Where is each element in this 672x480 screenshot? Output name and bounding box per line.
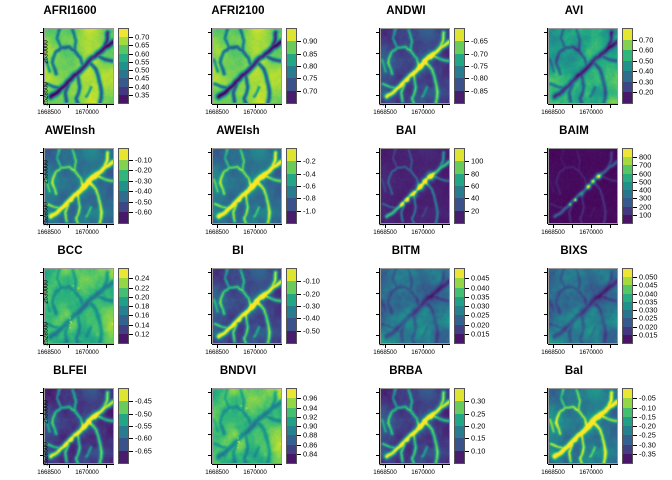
- colorbar-segment: [119, 297, 128, 306]
- colorbar-label: 0.14: [135, 320, 149, 329]
- colorbar-label: 0.80: [303, 62, 317, 71]
- panel-title: BI: [168, 245, 308, 257]
- colorbar-tick: [129, 325, 133, 326]
- colorbar-tick: [465, 41, 469, 42]
- colorbar-label: 0.50: [639, 56, 653, 65]
- raster-canvas: [381, 149, 449, 223]
- panel-title: BRBA: [336, 365, 476, 377]
- raster-map: [44, 268, 114, 344]
- x-axis-line: [548, 224, 618, 225]
- x-axis-label: 1668500: [205, 349, 228, 356]
- colorbar-label: 0.70: [639, 35, 653, 44]
- panel-andwi: ANDWI2530000252850016685001670000-0.65-0…: [336, 0, 504, 120]
- colorbar-tick: [129, 297, 133, 298]
- colorbar-tick: [297, 91, 301, 92]
- colorbar-segment: [119, 45, 128, 53]
- colorbar-segment: [455, 54, 464, 66]
- panel-avi: AVI25300002528500166850016700000.700.600…: [504, 0, 672, 120]
- colorbar-segment: [119, 451, 128, 463]
- x-axis-line: [44, 104, 114, 105]
- colorbar-label: 80: [471, 169, 479, 178]
- colorbar-tick: [633, 327, 637, 328]
- y-axis-line: [211, 388, 212, 464]
- colorbar-tick: [465, 306, 469, 307]
- y-axis-tick: [208, 314, 211, 315]
- colorbar-segment: [455, 334, 464, 343]
- panel-title: AWEIsh: [168, 125, 308, 137]
- colorbar-segment: [287, 426, 296, 435]
- colorbar-tick: [633, 454, 637, 455]
- colorbar-label: 0.025: [471, 311, 490, 320]
- y-axis-line: [547, 388, 548, 464]
- colorbar-segment: [287, 445, 296, 454]
- y-axis-line: [379, 388, 380, 464]
- colorbar-label: 0.30: [471, 397, 485, 406]
- colorbar-segment: [455, 315, 464, 324]
- x-axis-label: 1668500: [37, 349, 60, 356]
- colorbar-segment: [287, 186, 296, 198]
- colorbar-segment: [455, 174, 464, 186]
- colorbar-label: 100: [471, 157, 483, 166]
- colorbar-tick: [465, 161, 469, 162]
- y-axis-line: [547, 268, 548, 344]
- x-axis-tick: [442, 105, 443, 108]
- colorbar-segment: [119, 278, 128, 287]
- y-axis-tick: [40, 215, 43, 216]
- colorbar-tick: [129, 288, 133, 289]
- x-axis-label: 1668500: [373, 229, 396, 236]
- colorbar-tick: [633, 302, 637, 303]
- colorbar-segment: [623, 198, 632, 206]
- raster-map: [380, 268, 450, 344]
- y-axis-line: [211, 148, 212, 224]
- raster-canvas: [213, 29, 281, 103]
- y-axis-tick: [40, 335, 43, 336]
- colorbar-label: 0.90: [303, 37, 317, 46]
- x-axis-label: 1670000: [411, 349, 434, 356]
- colorbar-tick: [633, 285, 637, 286]
- panel-title: AFRI2100: [168, 5, 308, 17]
- y-axis-tick: [208, 392, 211, 393]
- panel-title: BIXS: [504, 245, 644, 257]
- colorbar-segment: [287, 174, 296, 186]
- x-axis-tick: [404, 225, 405, 228]
- colorbar-tick: [633, 398, 637, 399]
- colorbar-segment: [119, 191, 128, 202]
- colorbar-tick: [129, 62, 133, 63]
- colorbar-segment: [287, 54, 296, 66]
- colorbar-label: -0.10: [303, 277, 320, 286]
- raster-canvas: [549, 149, 617, 223]
- raster-map: [44, 148, 114, 224]
- colorbar-label: -0.55: [135, 422, 152, 431]
- colorbar-segment: [119, 62, 128, 70]
- colorbar: [454, 148, 465, 224]
- colorbar-tick: [297, 318, 301, 319]
- colorbar-label: -0.40: [135, 187, 152, 196]
- colorbar-segment: [455, 149, 464, 161]
- colorbar-tick: [297, 66, 301, 67]
- x-axis-tick: [404, 465, 405, 468]
- x-axis-tick: [610, 105, 611, 108]
- colorbar-tick: [129, 54, 133, 55]
- colorbar-segment: [119, 54, 128, 62]
- y-axis-tick: [544, 152, 547, 153]
- y-axis-label: 2528500: [43, 194, 50, 234]
- colorbar-label: 0.24: [135, 274, 149, 283]
- colorbar-segment: [455, 414, 464, 426]
- y-axis-label: 2530000: [43, 272, 50, 312]
- colorbar-tick: [129, 191, 133, 192]
- colorbar-tick: [297, 435, 301, 436]
- raster-canvas: [45, 389, 113, 463]
- y-axis-label: 2530000: [43, 32, 50, 72]
- colorbar-segment: [119, 334, 128, 343]
- colorbar-tick: [297, 41, 301, 42]
- y-axis-tick: [208, 32, 211, 33]
- x-axis-line: [44, 344, 114, 345]
- colorbar-label: 0.40: [639, 67, 653, 76]
- y-axis-tick: [544, 455, 547, 456]
- colorbar-tick: [297, 174, 301, 175]
- x-axis-tick: [385, 105, 386, 108]
- y-axis-tick: [208, 152, 211, 153]
- x-axis-line: [212, 224, 282, 225]
- colorbar-label: 0.035: [471, 292, 490, 301]
- colorbar-tick: [465, 211, 469, 212]
- y-axis-line: [379, 268, 380, 344]
- colorbar-segment: [287, 41, 296, 53]
- x-axis-tick: [572, 225, 573, 228]
- colorbar-segment: [623, 71, 632, 82]
- colorbar-segment: [623, 408, 632, 417]
- colorbar-segment: [119, 269, 128, 278]
- colorbar: [454, 28, 465, 104]
- colorbar-segment: [287, 78, 296, 90]
- colorbar-tick: [633, 71, 637, 72]
- colorbar-label: -0.65: [471, 37, 488, 46]
- colorbar-segment: [455, 78, 464, 90]
- y-axis-tick: [208, 74, 211, 75]
- panel-title: BAIM: [504, 125, 644, 137]
- colorbar-segment: [455, 269, 464, 278]
- colorbar-label: 0.18: [135, 302, 149, 311]
- colorbar-segment: [623, 335, 632, 343]
- y-axis-tick: [376, 32, 379, 33]
- raster-canvas: [45, 269, 113, 343]
- y-axis-tick: [544, 194, 547, 195]
- colorbar-segment: [623, 61, 632, 72]
- colorbar-tick: [465, 414, 469, 415]
- colorbar-tick: [129, 87, 133, 88]
- colorbar-segment: [623, 417, 632, 426]
- colorbar-tick: [633, 165, 637, 166]
- colorbar-label: 0.84: [303, 449, 317, 458]
- x-axis-tick: [553, 225, 554, 228]
- colorbar-tick: [465, 334, 469, 335]
- colorbar-label: -0.60: [135, 434, 152, 443]
- colorbar-tick: [297, 281, 301, 282]
- y-axis-line: [547, 28, 548, 104]
- colorbar-label: 0.20: [471, 422, 485, 431]
- y-axis-tick: [376, 314, 379, 315]
- colorbar-tick: [297, 445, 301, 446]
- colorbar-segment: [287, 91, 296, 103]
- y-axis-tick: [40, 173, 43, 174]
- colorbar-label: 20: [471, 206, 479, 215]
- colorbar-segment: [455, 451, 464, 463]
- raster-canvas: [213, 389, 281, 463]
- x-axis-label: 1670000: [579, 229, 602, 236]
- y-axis-label: 2528500: [43, 434, 50, 474]
- colorbar-tick: [297, 426, 301, 427]
- colorbar-segment: [287, 149, 296, 161]
- x-axis-tick: [87, 105, 88, 108]
- colorbar-segment: [623, 165, 632, 173]
- colorbar-tick: [633, 426, 637, 427]
- x-axis-tick: [217, 225, 218, 228]
- colorbar-tick: [297, 198, 301, 199]
- colorbar-segment: [119, 426, 128, 438]
- colorbar-tick: [129, 202, 133, 203]
- colorbar-label: 0.96: [303, 394, 317, 403]
- colorbar-segment: [119, 160, 128, 171]
- colorbar-label: -0.15: [639, 412, 656, 421]
- y-axis-tick: [376, 413, 379, 414]
- x-axis-tick: [572, 465, 573, 468]
- x-axis-label: 1670000: [411, 469, 434, 476]
- colorbar-segment: [119, 70, 128, 78]
- panel-title: BITM: [336, 245, 476, 257]
- colorbar-tick: [465, 325, 469, 326]
- x-axis-tick: [68, 465, 69, 468]
- x-axis-tick: [385, 345, 386, 348]
- colorbar-segment: [455, 66, 464, 78]
- colorbar-tick: [129, 95, 133, 96]
- colorbar-tick: [633, 310, 637, 311]
- colorbar-segment: [455, 91, 464, 103]
- colorbar-segment: [623, 50, 632, 61]
- colorbar-tick: [465, 288, 469, 289]
- colorbar-tick: [465, 451, 469, 452]
- y-axis-tick: [544, 32, 547, 33]
- y-axis-tick: [208, 95, 211, 96]
- colorbar-label: -0.2: [303, 157, 316, 166]
- x-axis-tick: [442, 345, 443, 348]
- raster-map: [548, 268, 618, 344]
- x-axis-line: [212, 464, 282, 465]
- colorbar-segment: [119, 325, 128, 334]
- panel-title: BaI: [504, 365, 644, 377]
- colorbar-segment: [455, 186, 464, 198]
- colorbar-segment: [455, 198, 464, 210]
- x-axis-tick: [255, 345, 256, 348]
- colorbar-label: -0.25: [639, 431, 656, 440]
- colorbar-tick: [633, 190, 637, 191]
- colorbar-label: -0.30: [135, 176, 152, 185]
- figure-raster-grid: AFRI160025300002528500166850016700000.70…: [0, 0, 672, 480]
- colorbar-segment: [455, 278, 464, 287]
- colorbar-segment: [287, 198, 296, 210]
- x-axis-tick: [87, 465, 88, 468]
- y-axis-tick: [208, 413, 211, 414]
- colorbar-label: 0.10: [471, 446, 485, 455]
- colorbar-tick: [297, 331, 301, 332]
- x-axis-label: 1670000: [75, 349, 98, 356]
- colorbar-label: -0.50: [135, 409, 152, 418]
- y-axis-tick: [544, 173, 547, 174]
- colorbar-label: 0.90: [303, 422, 317, 431]
- colorbar-segment: [623, 445, 632, 454]
- colorbar-label: 0.75: [303, 74, 317, 83]
- colorbar-label: 0.20: [639, 88, 653, 97]
- x-axis-tick: [106, 465, 107, 468]
- colorbar-label: -0.50: [135, 197, 152, 206]
- colorbar-tick: [633, 82, 637, 83]
- y-axis-tick: [544, 53, 547, 54]
- colorbar-label: 0.045: [471, 274, 490, 283]
- raster-canvas: [213, 269, 281, 343]
- raster-map: [380, 388, 450, 464]
- colorbar-segment: [119, 170, 128, 181]
- panel-bitm: BITM25300002528500166850016700000.0450.0…: [336, 240, 504, 360]
- raster-canvas: [45, 149, 113, 223]
- panel-title: BNDVI: [168, 365, 308, 377]
- x-axis-tick: [68, 345, 69, 348]
- x-axis-tick: [553, 105, 554, 108]
- panel-title: AFRI1600: [0, 5, 140, 17]
- y-axis-tick: [376, 434, 379, 435]
- colorbar-tick: [465, 66, 469, 67]
- colorbar-segment: [623, 426, 632, 435]
- y-axis-tick: [544, 74, 547, 75]
- colorbar-tick: [633, 157, 637, 158]
- panel-brba: BRBA25300002528500166850016700000.300.25…: [336, 360, 504, 480]
- colorbar-segment: [623, 82, 632, 93]
- colorbar: [622, 388, 633, 464]
- colorbar-segment: [119, 149, 128, 160]
- colorbar: [622, 268, 633, 344]
- panel-title: BCC: [0, 245, 140, 257]
- x-axis-tick: [274, 225, 275, 228]
- colorbar-segment: [119, 414, 128, 426]
- colorbar-tick: [129, 306, 133, 307]
- y-axis-tick: [40, 413, 43, 414]
- colorbar-tick: [297, 417, 301, 418]
- colorbar-segment: [623, 174, 632, 182]
- y-axis-tick: [40, 95, 43, 96]
- x-axis-label: 1670000: [579, 349, 602, 356]
- y-axis-label: 2528500: [43, 74, 50, 114]
- colorbar-segment: [623, 398, 632, 407]
- colorbar-tick: [297, 78, 301, 79]
- colorbar-segment: [287, 417, 296, 426]
- colorbar-label: 0.15: [471, 434, 485, 443]
- x-axis-label: 1668500: [205, 469, 228, 476]
- panel-bixs: BIXS25300002528500166850016700000.0500.0…: [504, 240, 672, 360]
- y-axis-tick: [544, 392, 547, 393]
- colorbar-tick: [633, 277, 637, 278]
- colorbar-label: 0.20: [135, 292, 149, 301]
- x-axis-line: [212, 344, 282, 345]
- colorbar-label: 0.60: [639, 46, 653, 55]
- x-axis-tick: [68, 105, 69, 108]
- colorbar-label: 0.86: [303, 440, 317, 449]
- colorbar-segment: [455, 438, 464, 450]
- raster-canvas: [381, 389, 449, 463]
- x-axis-label: 1670000: [75, 229, 98, 236]
- panel-title: BAI: [336, 125, 476, 137]
- y-axis-line: [379, 148, 380, 224]
- colorbar-tick: [129, 334, 133, 335]
- panel-bndvi: BNDVI25300002528500166850016700000.960.9…: [168, 360, 336, 480]
- colorbar-label: -0.4: [303, 169, 316, 178]
- colorbar-label: -0.70: [471, 49, 488, 58]
- x-axis-label: 1670000: [243, 229, 266, 236]
- x-axis-tick: [236, 105, 237, 108]
- colorbar-tick: [465, 278, 469, 279]
- y-axis-tick: [544, 314, 547, 315]
- colorbar-segment: [623, 318, 632, 326]
- x-axis-tick: [217, 465, 218, 468]
- y-axis-tick: [376, 173, 379, 174]
- colorbar-tick: [465, 54, 469, 55]
- y-axis-tick: [544, 215, 547, 216]
- x-axis-label: 1668500: [37, 469, 60, 476]
- x-axis-label: 1670000: [243, 469, 266, 476]
- colorbar-tick: [129, 315, 133, 316]
- colorbar-tick: [633, 198, 637, 199]
- colorbar-tick: [633, 294, 637, 295]
- y-axis-tick: [208, 173, 211, 174]
- panel-title: AVI: [504, 5, 644, 17]
- colorbar: [454, 388, 465, 464]
- y-axis-tick: [376, 95, 379, 96]
- colorbar-segment: [119, 78, 128, 86]
- x-axis-line: [548, 344, 618, 345]
- colorbar-segment: [287, 281, 296, 293]
- colorbar-segment: [623, 215, 632, 223]
- y-axis-label: 2530000: [43, 392, 50, 432]
- raster-map: [212, 28, 282, 104]
- colorbar-segment: [119, 181, 128, 192]
- colorbar-tick: [465, 186, 469, 187]
- raster-canvas: [381, 29, 449, 103]
- colorbar-segment: [119, 401, 128, 413]
- colorbar-segment: [623, 29, 632, 40]
- colorbar: [118, 388, 129, 464]
- colorbar: [118, 268, 129, 344]
- raster-canvas: [381, 269, 449, 343]
- colorbar-tick: [465, 401, 469, 402]
- colorbar-tick: [465, 297, 469, 298]
- x-axis-tick: [49, 105, 50, 108]
- x-axis-label: 1668500: [373, 109, 396, 116]
- colorbar: [286, 388, 297, 464]
- colorbar-label: -0.8: [303, 194, 316, 203]
- colorbar-label: -0.60: [135, 208, 152, 217]
- colorbar-segment: [455, 161, 464, 173]
- y-axis-tick: [544, 293, 547, 294]
- colorbar-segment: [623, 190, 632, 198]
- y-axis-tick: [208, 455, 211, 456]
- raster-map: [212, 268, 282, 344]
- raster-map: [212, 148, 282, 224]
- colorbar-tick: [129, 438, 133, 439]
- x-axis-tick: [68, 225, 69, 228]
- colorbar-tick: [633, 445, 637, 446]
- x-axis-tick: [591, 225, 592, 228]
